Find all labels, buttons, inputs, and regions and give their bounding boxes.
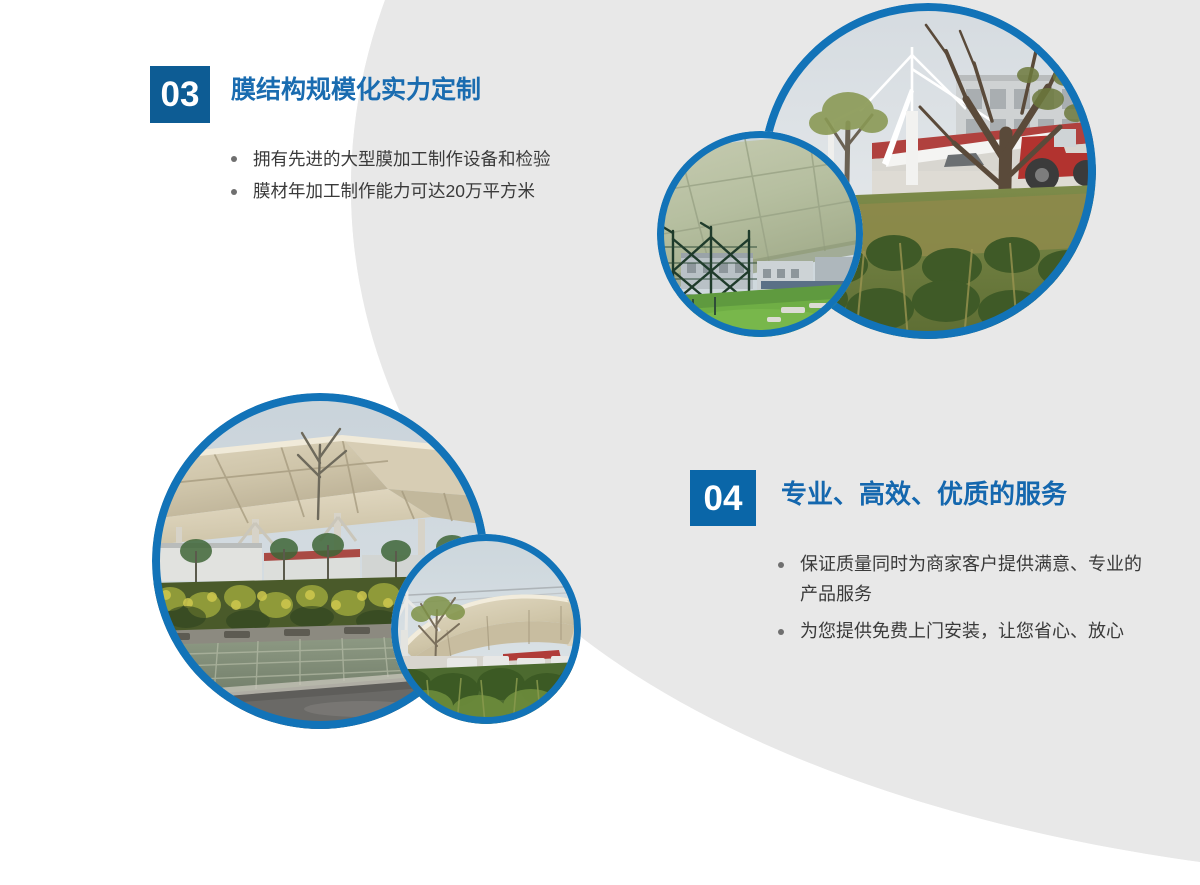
section-04-title: 专业、高效、优质的服务 <box>781 470 1067 507</box>
bullet-dot-icon <box>778 562 784 568</box>
section-03-title: 膜结构规模化实力定制 <box>231 66 481 103</box>
photo-membrane-canopy-with-parked-vehicles <box>391 534 581 724</box>
bullet-dot-icon <box>778 629 784 635</box>
list-item-text: 保证质量同时为商家客户提供满意、专业的产品服务 <box>800 554 1142 604</box>
section-03-bullet-list: 拥有先进的大型膜加工制作设备和检验 膜材年加工制作能力可达20万平方米 <box>231 145 620 206</box>
list-item: 为您提供免费上门安装，让您省心、放心 <box>778 617 1150 647</box>
bullet-dot-icon <box>231 156 237 162</box>
photo-membrane-canopy-over-green-sports-field <box>657 131 863 337</box>
list-item: 拥有先进的大型膜加工制作设备和检验 <box>231 145 620 173</box>
section-03-header: 03 膜结构规模化实力定制 <box>150 66 620 123</box>
photo-art-bottom-small <box>391 534 581 724</box>
list-item: 保证质量同时为商家客户提供满意、专业的产品服务 <box>778 550 1150 609</box>
list-item-text: 膜材年加工制作能力可达20万平方米 <box>253 181 535 201</box>
section-04-number-badge: 04 <box>690 470 756 526</box>
section-04-header: 04 专业、高效、优质的服务 <box>690 470 1150 526</box>
list-item-text: 为您提供免费上门安装，让您省心、放心 <box>800 621 1124 641</box>
list-item-text: 拥有先进的大型膜加工制作设备和检验 <box>253 149 551 169</box>
photo-art-top-small <box>657 131 863 337</box>
page-root: 03 膜结构规模化实力定制 拥有先进的大型膜加工制作设备和检验 膜材年加工制作能… <box>0 0 1200 885</box>
bullet-dot-icon <box>231 189 237 195</box>
section-04-bullet-list: 保证质量同时为商家客户提供满意、专业的产品服务 为您提供免费上门安装，让您省心、… <box>778 550 1150 647</box>
section-03-number-badge: 03 <box>150 66 210 123</box>
section-03: 03 膜结构规模化实力定制 拥有先进的大型膜加工制作设备和检验 膜材年加工制作能… <box>150 66 620 210</box>
list-item: 膜材年加工制作能力可达20万平方米 <box>231 177 620 205</box>
section-04: 04 专业、高效、优质的服务 保证质量同时为商家客户提供满意、专业的产品服务 为… <box>690 470 1150 655</box>
